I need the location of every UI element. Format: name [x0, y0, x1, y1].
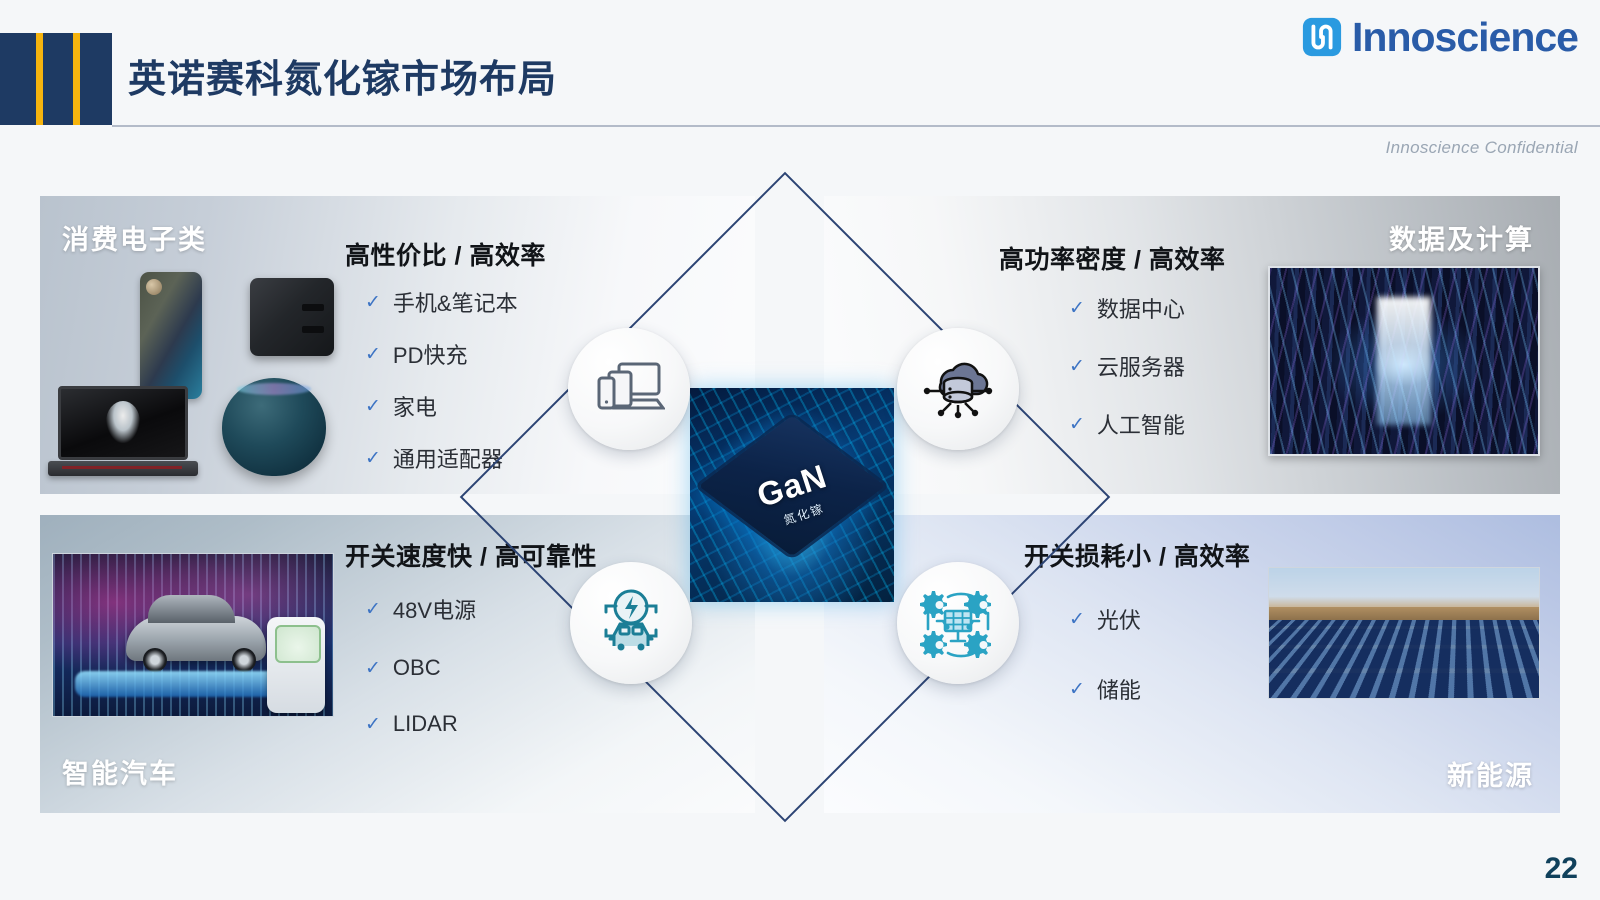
list-item: ✓OBC	[365, 655, 476, 681]
confidential-notice: Innoscience Confidential	[1386, 138, 1578, 158]
gaming-laptop-image	[48, 386, 198, 476]
list-item: ✓云服务器	[1069, 350, 1185, 382]
list-item: ✓48V电源	[365, 593, 476, 625]
header-stripe-2	[73, 33, 80, 125]
panel-label-data-and-computing: 数据及计算	[1389, 218, 1534, 257]
panel-label-new-energy: 新能源	[1447, 754, 1534, 793]
check-icon: ✓	[1069, 415, 1085, 434]
list-item-label: OBC	[393, 655, 441, 681]
check-icon: ✓	[365, 600, 381, 619]
heading-consumer-electronics: 高性价比 / 高效率	[345, 236, 546, 272]
check-icon: ✓	[1069, 357, 1085, 376]
check-icon: ✓	[1069, 680, 1085, 699]
list-item-label: 光伏	[1097, 603, 1141, 635]
devices-icon	[593, 356, 665, 423]
list-item-label: 人工智能	[1097, 408, 1185, 440]
smart-car-image	[52, 553, 334, 717]
bubble-consumer-electronics[interactable]	[568, 328, 690, 450]
list-item: ✓储能	[1069, 673, 1141, 705]
list-data-and-computing: ✓数据中心 ✓云服务器 ✓人工智能	[1069, 292, 1185, 460]
check-icon: ✓	[1069, 299, 1085, 318]
list-item: ✓数据中心	[1069, 292, 1185, 324]
cloud-database-icon	[921, 353, 995, 426]
smart-speaker-image	[222, 378, 326, 476]
brand-logo: Innoscience	[1301, 16, 1578, 58]
list-item: ✓人工智能	[1069, 408, 1185, 440]
smartphone-image	[140, 272, 202, 399]
consumer-products-image	[40, 196, 360, 494]
list-smart-automotive: ✓48V电源 ✓OBC ✓LIDAR	[365, 593, 476, 757]
ev-charging-icon	[592, 586, 670, 661]
list-item: ✓手机&笔记本	[365, 286, 518, 318]
bubble-data-and-computing[interactable]	[897, 328, 1019, 450]
page-title: 英诺赛科氮化镓市场布局	[128, 48, 557, 103]
phone-in-hand-image	[267, 617, 325, 713]
check-icon: ✓	[365, 449, 381, 468]
header-divider	[112, 125, 1600, 127]
list-item-label: 储能	[1097, 673, 1141, 705]
gan-chip-image: GaN 氮化镓	[690, 388, 894, 602]
list-item-label: 云服务器	[1097, 350, 1185, 382]
list-item: ✓家电	[365, 390, 518, 422]
bubble-smart-automotive[interactable]	[570, 562, 692, 684]
solar-gears-icon	[918, 583, 998, 664]
list-item-label: PD快充	[393, 338, 468, 370]
check-icon: ✓	[365, 345, 381, 364]
check-icon: ✓	[365, 397, 381, 416]
page-number: 22	[1545, 852, 1578, 886]
check-icon: ✓	[365, 715, 381, 734]
list-item-label: 手机&笔记本	[393, 286, 518, 318]
list-item-label: LIDAR	[393, 711, 458, 737]
slide: 英诺赛科氮化镓市场布局 Innoscience Innoscience Conf…	[0, 0, 1600, 900]
list-new-energy: ✓光伏 ✓储能	[1069, 603, 1141, 725]
heading-data-and-computing: 高功率密度 / 高效率	[999, 240, 1225, 276]
check-icon: ✓	[365, 293, 381, 312]
list-item-label: 48V电源	[393, 593, 476, 625]
list-item-label: 家电	[393, 390, 437, 422]
data-center-corridor-image	[1268, 266, 1540, 456]
bubble-new-energy[interactable]	[897, 562, 1019, 684]
list-item: ✓PD快充	[365, 338, 518, 370]
check-icon: ✓	[365, 659, 381, 678]
check-icon: ✓	[1069, 610, 1085, 629]
solar-farm-image	[1268, 567, 1540, 699]
list-item: ✓LIDAR	[365, 711, 476, 737]
panel-label-smart-automotive: 智能汽车	[62, 752, 178, 791]
header-accent-block	[0, 33, 112, 125]
header-stripe-1	[36, 33, 43, 125]
list-item: ✓光伏	[1069, 603, 1141, 635]
innoscience-logo-mark-icon	[1301, 16, 1343, 58]
list-item-label: 数据中心	[1097, 292, 1185, 324]
pd-charger-image	[250, 278, 334, 356]
brand-name: Innoscience	[1352, 16, 1578, 58]
